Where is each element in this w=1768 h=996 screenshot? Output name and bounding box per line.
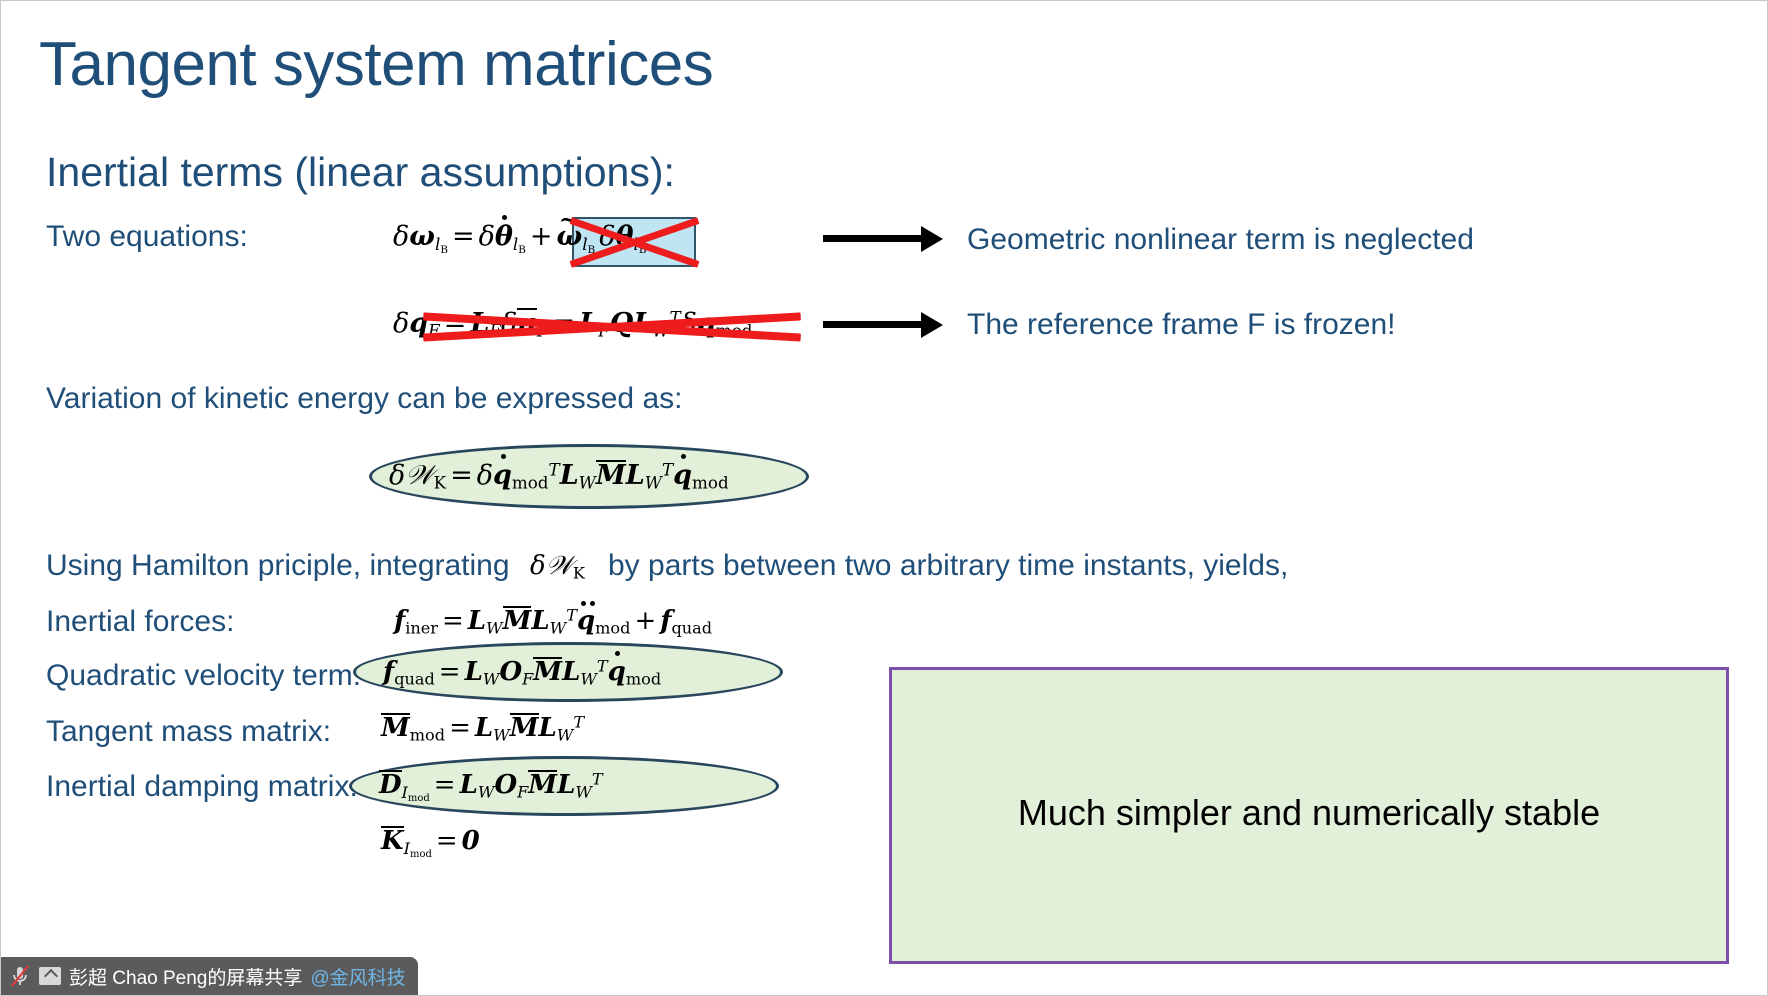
label-tangent-mass-matrix: Tangent mass matrix: [46,715,331,749]
equation-kinetic-energy: δ𝒲K=δqmodTLWMLWTqmod [389,460,729,491]
equation-inertial-damping-matrix: DImod=LWOFMLWT [379,770,603,803]
page-title: Tangent system matrices [39,29,713,100]
arrow-head-icon [921,312,943,338]
annotation-geometric-nonlinear: Geometric nonlinear term is neglected [967,223,1474,257]
label-hamilton-pre: Using Hamilton priciple, integrating [46,549,510,583]
label-hamilton-post: by parts between two arbitrary time inst… [608,549,1288,583]
mic-muted-icon[interactable] [9,964,31,988]
arrow-line [823,235,928,242]
label-two-equations: Two equations: [46,220,248,254]
presentation-slide: Tangent system matrices Inertial terms (… [0,0,1768,996]
label-quadratic-velocity: Quadratic velocity term: [46,659,361,693]
share-presenter-name: 彭超 Chao Peng的屏幕共享 [69,963,302,990]
equation-stiffness-zero: KImod=0 [381,826,480,859]
screen-share-icon[interactable] [39,967,61,985]
share-organization: @金风科技 [310,963,405,990]
annotation-reference-frame: The reference frame F is frozen! [967,308,1396,342]
equation-tangent-mass-matrix: Mmod=LWMLWT [381,713,584,744]
label-variation-kinetic-energy: Variation of kinetic energy can be expre… [46,382,682,416]
equation-hamilton-symbol: δ𝒲K [530,553,585,582]
conclusion-box: Much simpler and numerically stable [889,667,1729,964]
label-inertial-damping-matrix: Inertial damping matrix: [46,770,358,804]
equation-quadratic-velocity: fquad=LWOFMLWTqmod [383,657,661,688]
arrow-line [823,321,928,328]
label-inertial-forces: Inertial forces: [46,605,234,639]
equation-inertial-forces: finer=LWMLWTqmod+fquad [394,606,712,637]
conclusion-text: Much simpler and numerically stable [892,792,1726,834]
arrow-head-icon [921,226,943,252]
screen-share-overlay[interactable]: 彭超 Chao Peng的屏幕共享 @金风科技 [1,957,418,995]
section-heading: Inertial terms (linear assumptions): [46,149,675,196]
